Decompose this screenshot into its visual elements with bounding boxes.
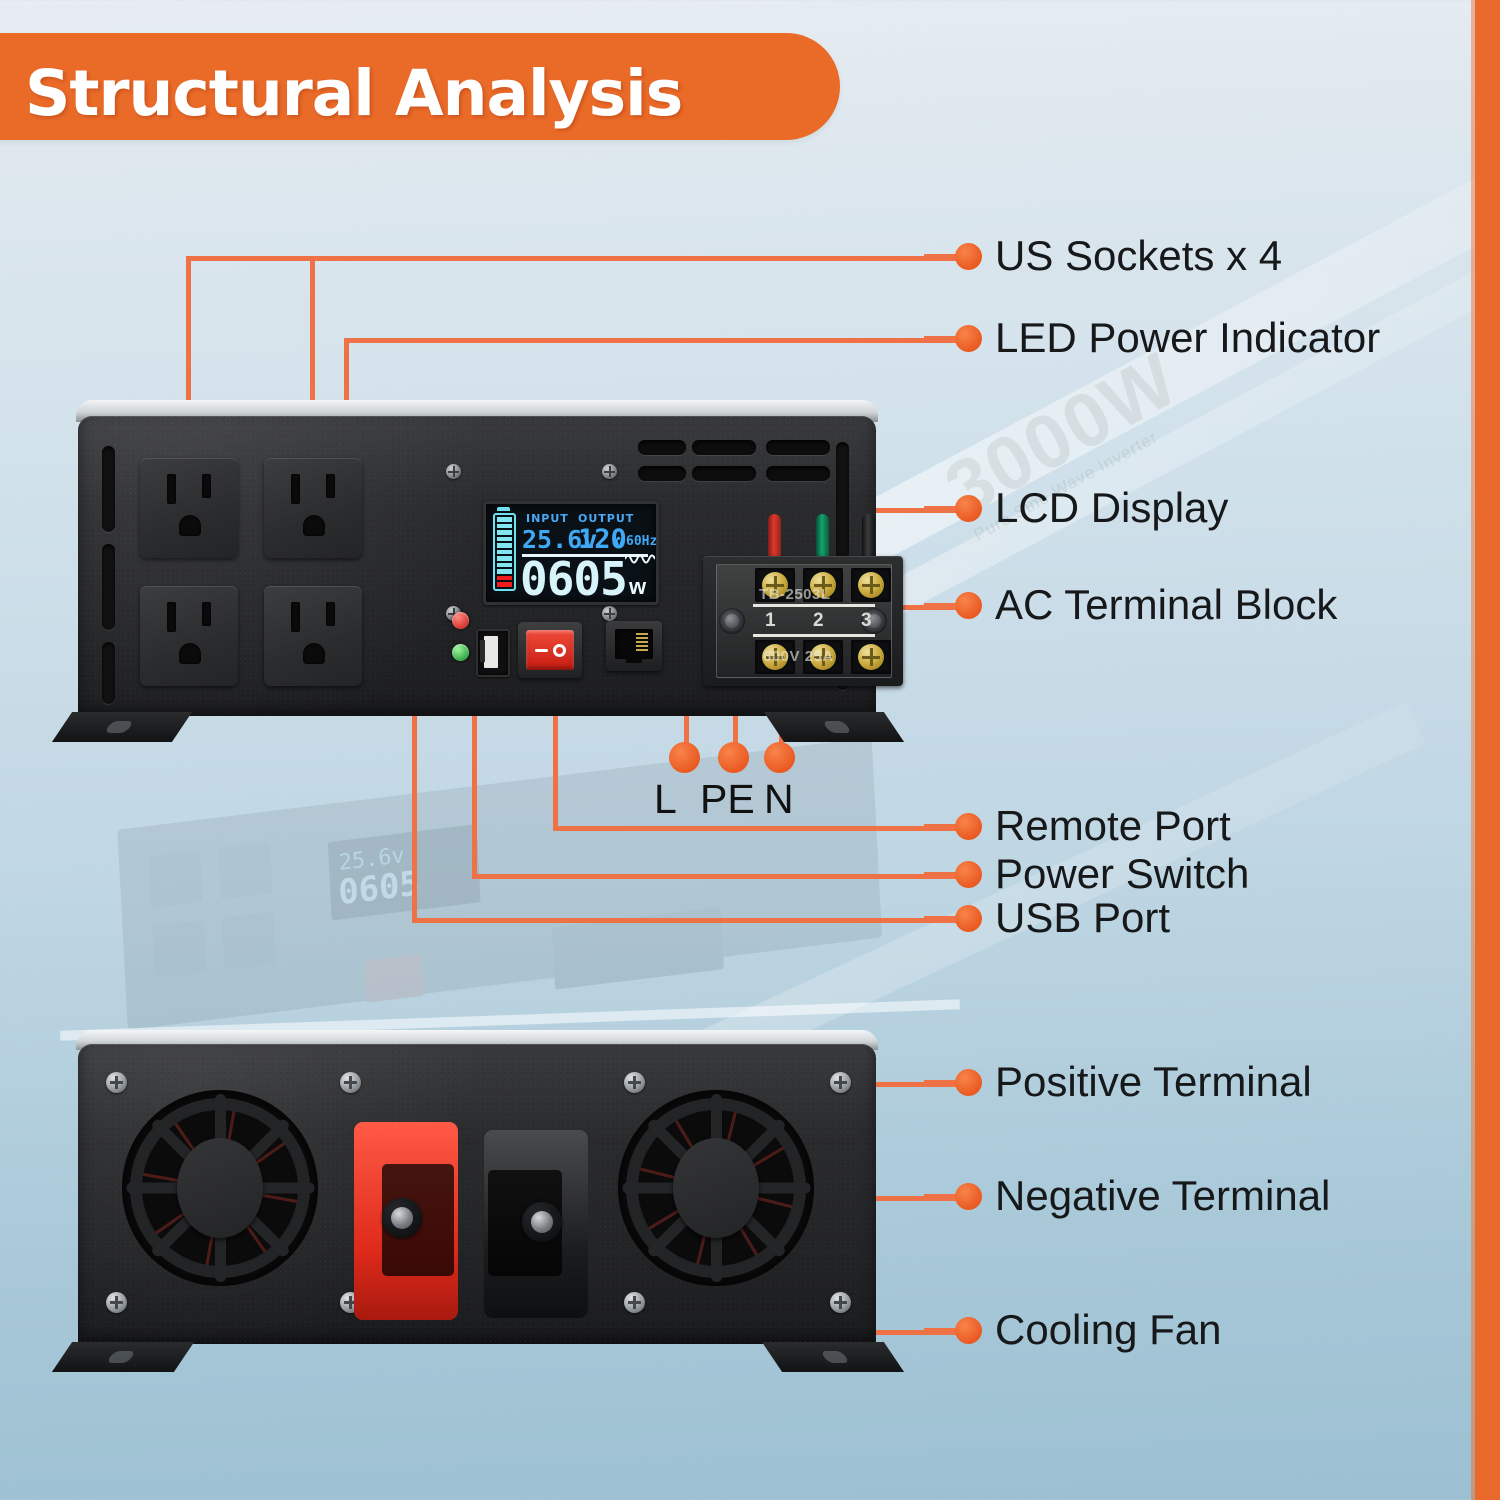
callout-power-switch[interactable]: Power Switch — [924, 850, 1249, 898]
switch-off-symbol-icon — [535, 649, 548, 652]
lcd-frequency: 60Hz — [626, 534, 657, 549]
callout-lead — [924, 872, 958, 877]
socket-slot-line — [167, 474, 176, 504]
mounting-foot-left — [52, 712, 192, 742]
callout-dot-icon — [955, 813, 982, 840]
socket-slot-line — [291, 602, 300, 632]
inverter-front-panel: INPUT OUTPUT 25.6v 120 v 60Hz 0605 w — [62, 400, 892, 730]
callout-lead — [924, 1328, 958, 1333]
terminal-block-mount-screw — [719, 608, 745, 634]
power-switch-rocker[interactable] — [526, 630, 574, 670]
mounting-hole — [104, 721, 134, 733]
panel-corner-screw — [830, 1072, 851, 1093]
battery-cap-icon — [497, 507, 510, 511]
terminal-screw[interactable] — [858, 644, 884, 670]
cooling-fan-left — [122, 1090, 318, 1286]
positive-terminal-bolt[interactable] — [382, 1198, 422, 1238]
wire-live-red — [768, 514, 781, 560]
battery-segment — [497, 550, 512, 555]
right-edge-accent-stripe — [1475, 0, 1500, 1500]
panel-corner-screw — [624, 1072, 645, 1093]
fan-hub — [177, 1138, 263, 1238]
background-light-band — [852, 245, 1500, 632]
remote-port-pins — [636, 633, 648, 653]
callout-dot-icon — [955, 905, 982, 932]
mounting-foot-right — [764, 712, 904, 742]
pin-label-n: N — [764, 776, 794, 823]
panel-corner-screw — [106, 1292, 127, 1313]
callout-lead — [924, 916, 958, 921]
leader-line-remote-port — [553, 826, 958, 831]
vent-slot — [692, 440, 756, 455]
socket-slot-neutral — [202, 602, 211, 626]
leader-line-us-sockets — [186, 256, 958, 261]
socket-slot-line — [291, 474, 300, 504]
panel-corner-screw — [106, 1072, 127, 1093]
pin-dot-pe-icon — [718, 742, 749, 773]
vent-slot — [766, 440, 830, 455]
mounting-hole — [820, 1351, 850, 1363]
callout-dot-icon — [955, 861, 982, 888]
callout-label: AC Terminal Block — [995, 581, 1337, 629]
callout-positive-terminal[interactable]: Positive Terminal — [924, 1058, 1312, 1106]
lcd-power-value: 0605 — [520, 552, 627, 605]
lcd-power-unit: w — [629, 574, 646, 600]
battery-segment — [497, 569, 512, 574]
us-socket-4[interactable] — [264, 586, 362, 686]
callout-lead — [924, 506, 958, 511]
vent-slot — [102, 642, 115, 704]
mounting-hole — [106, 1351, 136, 1363]
callout-label: Negative Terminal — [995, 1172, 1330, 1220]
battery-segment — [497, 517, 512, 522]
callout-remote-port[interactable]: Remote Port — [924, 802, 1231, 850]
power-switch[interactable] — [518, 622, 582, 678]
ghost-socket — [218, 841, 272, 899]
pin-dot-l-icon — [669, 742, 700, 773]
socket-slot-line — [167, 602, 176, 632]
callout-dot-icon — [955, 1183, 982, 1210]
usb-port[interactable] — [476, 629, 510, 677]
switch-on-symbol-icon — [553, 644, 566, 657]
callout-ac-terminal[interactable]: AC Terminal Block — [924, 581, 1337, 629]
battery-segment-low — [497, 582, 512, 587]
callout-lead — [924, 1194, 958, 1199]
callout-lead — [924, 254, 958, 259]
ac-terminal-block[interactable]: TB-2503L 600V 25A 1 2 3 — [703, 556, 903, 686]
ghost-lcd: 25.6v 0605 — [328, 824, 481, 920]
vent-slot — [102, 544, 115, 630]
fan-hub — [673, 1138, 759, 1238]
battery-segment — [497, 556, 512, 561]
callout-label: US Sockets x 4 — [995, 232, 1282, 280]
callout-dot-icon — [955, 1317, 982, 1344]
panel-screw — [446, 464, 461, 479]
led-power-indicator-green — [452, 644, 469, 661]
positive-terminal[interactable] — [354, 1122, 458, 1320]
callout-dot-icon — [955, 592, 982, 619]
leader-line-usb-port — [412, 918, 958, 923]
lcd-display[interactable]: INPUT OUTPUT 25.6v 120 v 60Hz 0605 w — [483, 501, 659, 605]
mounting-foot-right — [762, 1342, 904, 1372]
battery-segment — [497, 543, 512, 548]
negative-terminal-bolt[interactable] — [522, 1202, 562, 1242]
usb-tongue — [484, 636, 498, 668]
callout-label: Power Switch — [995, 850, 1249, 898]
back-face-plate — [78, 1044, 876, 1344]
vent-slot — [638, 466, 686, 481]
terminal-block-bar-bottom — [753, 634, 875, 637]
battery-segment-low — [497, 576, 512, 581]
socket-slot-neutral — [326, 602, 335, 626]
callout-lead — [924, 1080, 958, 1085]
vent-slot — [766, 466, 830, 481]
callout-label: Remote Port — [995, 802, 1231, 850]
pin-label-pe: PE — [700, 776, 755, 823]
socket-slot-neutral — [326, 474, 335, 498]
ghost-lcd-line1: 25.6v — [338, 843, 405, 876]
battery-segment — [497, 524, 512, 529]
mounting-hole — [822, 721, 852, 733]
terminal-block-bar-top — [753, 604, 875, 607]
callout-dot-icon — [955, 243, 982, 270]
callout-led-indicator[interactable]: LED Power Indicator — [924, 314, 1380, 362]
us-socket-3[interactable] — [140, 586, 238, 686]
ghost-switch — [364, 954, 424, 1003]
callout-lead — [924, 824, 958, 829]
ghost-lcd-line2: 0605 — [337, 863, 420, 913]
socket-ground-hole — [179, 515, 201, 536]
ghost-socket — [222, 911, 276, 969]
callout-lead — [924, 603, 958, 608]
callout-label: Positive Terminal — [995, 1058, 1312, 1106]
vent-slot — [638, 440, 686, 455]
vent-slot — [836, 442, 849, 560]
leader-line-power-switch — [472, 874, 958, 879]
battery-segment — [497, 563, 512, 568]
battery-gauge-icon — [493, 513, 516, 591]
terminal-screw[interactable] — [858, 572, 884, 598]
callout-label: Cooling Fan — [995, 1306, 1221, 1354]
terminal-block-model: TB-2503L — [759, 586, 831, 603]
battery-segment — [497, 537, 512, 542]
pin-dot-n-icon — [764, 742, 795, 773]
terminal-position-2: 2 — [813, 610, 824, 632]
led-power-indicator-red — [452, 612, 469, 629]
vent-slot — [692, 466, 756, 481]
terminal-position-1: 1 — [765, 610, 776, 632]
terminal-position-3: 3 — [861, 610, 872, 632]
pin-label-l: L — [654, 776, 677, 823]
panel-corner-screw — [624, 1292, 645, 1313]
socket-ground-hole — [179, 643, 201, 664]
page-title: Structural Analysis — [25, 57, 682, 130]
leader-line-led-indicator — [344, 338, 958, 343]
panel-screw — [602, 464, 617, 479]
lcd-input-label: INPUT — [526, 512, 569, 525]
inverter-back-panel — [62, 1030, 892, 1375]
remote-port[interactable] — [606, 621, 662, 671]
callout-label: LED Power Indicator — [995, 314, 1380, 362]
negative-terminal[interactable] — [484, 1130, 588, 1318]
cooling-fan-right — [618, 1090, 814, 1286]
panel-corner-screw — [340, 1072, 361, 1093]
callout-lcd-display[interactable]: LCD Display — [924, 484, 1228, 532]
wire-neutral-black — [862, 514, 875, 560]
socket-ground-hole — [303, 643, 325, 664]
callout-label: USB Port — [995, 894, 1170, 942]
lcd-output-voltage-unit: v — [614, 533, 624, 553]
us-socket-2[interactable] — [264, 458, 362, 558]
socket-slot-neutral — [202, 474, 211, 498]
battery-segment — [497, 530, 512, 535]
ghost-socket — [152, 920, 206, 978]
callout-cooling-fan[interactable]: Cooling Fan — [924, 1306, 1221, 1354]
wire-ground-green — [816, 514, 829, 560]
callout-usb-port[interactable]: USB Port — [924, 894, 1170, 942]
vent-slot — [102, 446, 115, 532]
callout-negative-terminal[interactable]: Negative Terminal — [924, 1172, 1330, 1220]
us-socket-1[interactable] — [140, 458, 238, 558]
callout-lead — [924, 336, 958, 341]
callout-dot-icon — [955, 325, 982, 352]
mounting-foot-left — [52, 1342, 194, 1372]
sine-wave-icon — [625, 552, 655, 566]
panel-screw — [602, 606, 617, 621]
callout-us-sockets[interactable]: US Sockets x 4 — [924, 232, 1282, 280]
callout-dot-icon — [955, 1069, 982, 1096]
terminal-block-rating: 600V 25A — [763, 648, 834, 665]
socket-ground-hole — [303, 515, 325, 536]
callout-dot-icon — [955, 495, 982, 522]
ghost-socket — [149, 850, 203, 908]
callout-label: LCD Display — [995, 484, 1228, 532]
front-face-plate: INPUT OUTPUT 25.6v 120 v 60Hz 0605 w — [78, 416, 876, 716]
panel-corner-screw — [830, 1292, 851, 1313]
